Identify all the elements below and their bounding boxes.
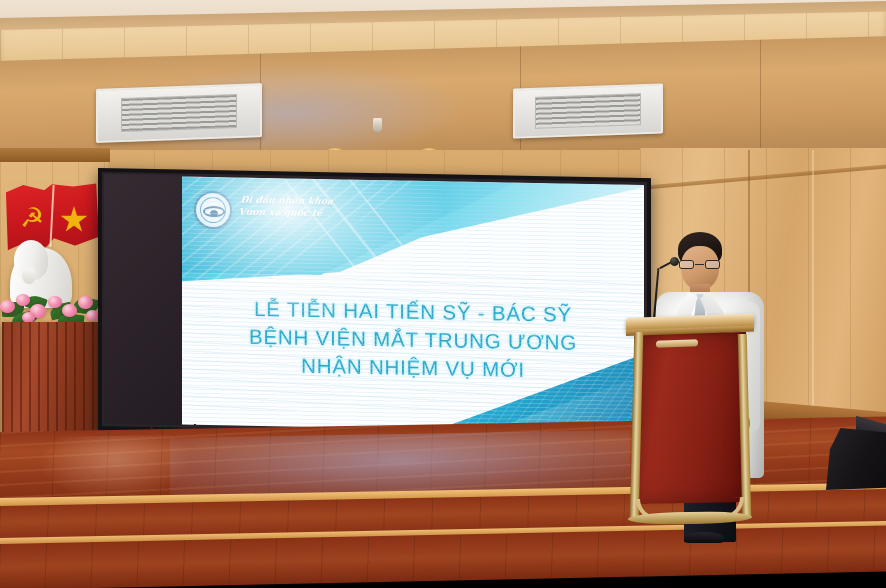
presenter-shoe <box>684 532 724 543</box>
glasses-lens-right <box>705 260 720 269</box>
bust-beard <box>22 268 36 284</box>
flower-bloom <box>16 294 30 306</box>
podium-body <box>634 332 746 504</box>
emblem-pupil <box>210 210 218 216</box>
vent-grille <box>535 94 640 129</box>
hammer-and-sickle-icon: ☭ <box>20 204 50 234</box>
flower-bloom <box>78 296 93 309</box>
glasses-bridge <box>695 264 704 265</box>
slide-slogan: Đi đầu nhãn khoa Vươn xa quốc tế <box>238 195 362 221</box>
wall-corner-seam <box>812 150 814 446</box>
vent-grille <box>121 94 238 132</box>
fire-sprinkler-icon <box>373 118 382 132</box>
glasses-lens-left <box>679 260 694 269</box>
flower-bloom <box>48 296 62 308</box>
slogan-line-2: Vươn xa quốc tế <box>238 207 360 221</box>
air-conditioner-vent-icon <box>96 83 262 143</box>
ceiling-seam <box>760 40 761 152</box>
air-conditioner-vent-icon <box>513 83 663 138</box>
left-wall-top-trim <box>0 148 110 162</box>
podium-nameplate <box>656 339 698 347</box>
microphone-capsule <box>670 257 679 266</box>
led-screen[interactable]: Đi đầu nhãn khoa Vươn xa quốc tế LỄ TIỄN… <box>98 168 651 440</box>
bust-pedestal <box>2 322 106 440</box>
presentation-slide: Đi đầu nhãn khoa Vươn xa quốc tế LỄ TIỄN… <box>182 177 644 433</box>
flower-bloom <box>62 304 77 317</box>
eyeglasses-icon <box>679 260 721 269</box>
screen-dark-margin <box>104 174 186 426</box>
stage-light-reflection <box>40 435 190 500</box>
flower-bloom <box>0 300 15 313</box>
eye-hospital-emblem-icon <box>194 191 232 230</box>
conference-hall-photo: ☭ <box>0 0 886 588</box>
slide-title: LỄ TIỄN HAI TIẾN SỸ - BÁC SỸ BỆNH VIỆN M… <box>182 295 644 387</box>
